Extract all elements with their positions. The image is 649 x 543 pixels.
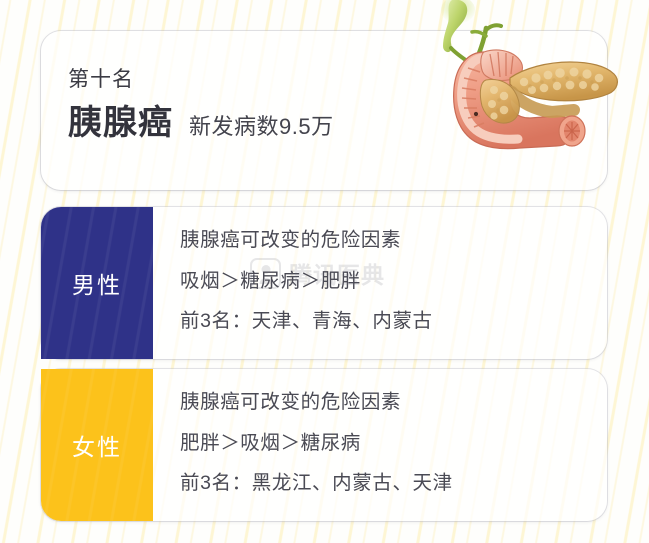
female-section-card: 女性 胰腺癌可改变的危险因素 肥胖＞吸烟＞糖尿病 前3名：黑龙江、内蒙古、天津 bbox=[41, 369, 607, 521]
male-tab: 男性 bbox=[41, 207, 153, 359]
female-content: 胰腺癌可改变的危险因素 肥胖＞吸烟＞糖尿病 前3名：黑龙江、内蒙古、天津 bbox=[180, 393, 591, 494]
female-top-regions: 前3名：黑龙江、内蒙古、天津 bbox=[180, 474, 591, 494]
infographic-page: 第十名 胰腺癌 新发病数9.5万 bbox=[0, 0, 649, 543]
new-case-count-text: 新发病数9.5万 bbox=[189, 116, 334, 138]
male-tab-label: 男性 bbox=[72, 266, 122, 300]
female-tab-label: 女性 bbox=[72, 428, 122, 462]
male-section-card: 男性 胰腺癌可改变的危险因素 吸烟＞糖尿病＞肥胖 前3名：天津、青海、内蒙古 bbox=[41, 207, 607, 359]
headline-card: 第十名 胰腺癌 新发病数9.5万 bbox=[41, 31, 607, 190]
male-top-regions: 前3名：天津、青海、内蒙古 bbox=[180, 312, 591, 332]
male-risk-factors-ranking: 吸烟＞糖尿病＞肥胖 bbox=[180, 272, 591, 292]
female-risk-factors-heading: 胰腺癌可改变的危险因素 bbox=[180, 393, 591, 413]
male-content: 胰腺癌可改变的危险因素 吸烟＞糖尿病＞肥胖 前3名：天津、青海、内蒙古 bbox=[180, 231, 591, 332]
rank-label: 第十名 bbox=[68, 63, 134, 93]
female-risk-factors-ranking: 肥胖＞吸烟＞糖尿病 bbox=[180, 434, 591, 454]
male-risk-factors-heading: 胰腺癌可改变的危险因素 bbox=[180, 231, 591, 251]
title-row: 胰腺癌 新发病数9.5万 bbox=[68, 106, 334, 140]
cancer-name-title: 胰腺癌 bbox=[68, 106, 173, 140]
female-tab: 女性 bbox=[41, 369, 153, 521]
